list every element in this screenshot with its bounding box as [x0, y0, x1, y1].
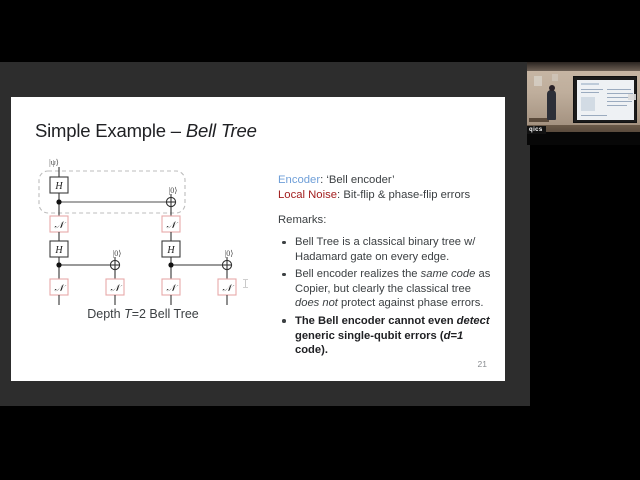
webcam-watermark: qics	[527, 126, 546, 134]
remark-text-run: Bell encoder realizes the	[295, 268, 421, 280]
webcam-inset[interactable]: qics	[527, 62, 640, 145]
local-noise-line: Local Noise: Bit-flip & phase-flip error…	[278, 188, 493, 203]
presentation-slide: Simple Example – Bell Tree .wire { strok…	[11, 97, 505, 381]
page-title: Simple Example – Bell Tree	[35, 120, 257, 142]
text-caret-artifact	[245, 279, 246, 288]
remark-text-run: same code	[421, 268, 476, 280]
encoder-value: ‘Bell encoder’	[326, 174, 394, 186]
projection-screen	[577, 80, 634, 120]
ancilla-label-left: |0⟩	[113, 249, 122, 258]
remark-text-run: code).	[295, 344, 328, 356]
remark-item: Bell Tree is a classical binary tree w/ …	[278, 235, 493, 264]
remark-text-run: protect against phase errors.	[338, 297, 484, 309]
bell-tree-circuit-figure: .wire { stroke:#333; stroke-width:1.1; }…	[31, 155, 271, 345]
remark-text-run: does not	[295, 297, 338, 309]
svg-text:H: H	[54, 245, 63, 256]
remarks-column: Encoder: ‘Bell encoder’ Local Noise: Bit…	[278, 173, 493, 361]
presenter-head	[549, 85, 555, 91]
figure-caption: Depth T=2 Bell Tree	[31, 307, 255, 321]
slide-title-emphasis: Bell Tree	[186, 120, 257, 141]
slide-page-number: 21	[478, 359, 487, 369]
caption-suffix: =2 Bell Tree	[132, 307, 199, 321]
wall-display-panel	[628, 94, 636, 100]
remark-item: The Bell encoder cannot even detect gene…	[278, 314, 493, 358]
presenter-body	[547, 90, 556, 120]
remark-text-run: detect	[457, 315, 490, 327]
remark-item: Bell encoder realizes the same code as C…	[278, 267, 493, 311]
remarks-heading: Remarks:	[278, 214, 493, 226]
caption-depth-symbol: T	[124, 307, 132, 321]
encoder-label: Encoder	[278, 174, 320, 186]
caption-prefix: Depth	[87, 307, 124, 321]
ancilla-label-right: |0⟩	[225, 249, 234, 258]
room-table	[529, 118, 549, 122]
local-noise-label: Local Noise	[278, 189, 337, 201]
slide-title-main: Simple Example –	[35, 120, 186, 141]
ancilla-label-top: |0⟩	[169, 186, 178, 195]
remark-text-run: generic single-qubit errors (	[295, 330, 444, 342]
remark-text-run: Bell Tree is a classical binary tree w/ …	[295, 236, 475, 263]
room-ceiling	[527, 62, 640, 71]
cnot-control-top	[56, 199, 61, 204]
encoder-line: Encoder: ‘Bell encoder’	[278, 173, 493, 188]
input-state-label: |ψ⟩	[49, 158, 59, 167]
cnot-control-left	[56, 262, 61, 267]
wall-poster-left	[534, 76, 542, 86]
remark-text-run: The Bell encoder cannot even	[295, 315, 457, 327]
svg-text:H: H	[166, 245, 175, 256]
remarks-list: Bell Tree is a classical binary tree w/ …	[278, 235, 493, 358]
local-noise-value: Bit-flip & phase-flip errors	[343, 189, 470, 201]
screen-root: Simple Example – Bell Tree .wire { strok…	[0, 0, 640, 480]
svg-text:H: H	[54, 181, 63, 192]
cnot-control-right	[168, 262, 173, 267]
remark-text-run: d=1	[444, 330, 464, 342]
circuit-diagram-svg: .wire { stroke:#333; stroke-width:1.1; }…	[31, 155, 271, 315]
wall-poster-center	[552, 74, 558, 81]
